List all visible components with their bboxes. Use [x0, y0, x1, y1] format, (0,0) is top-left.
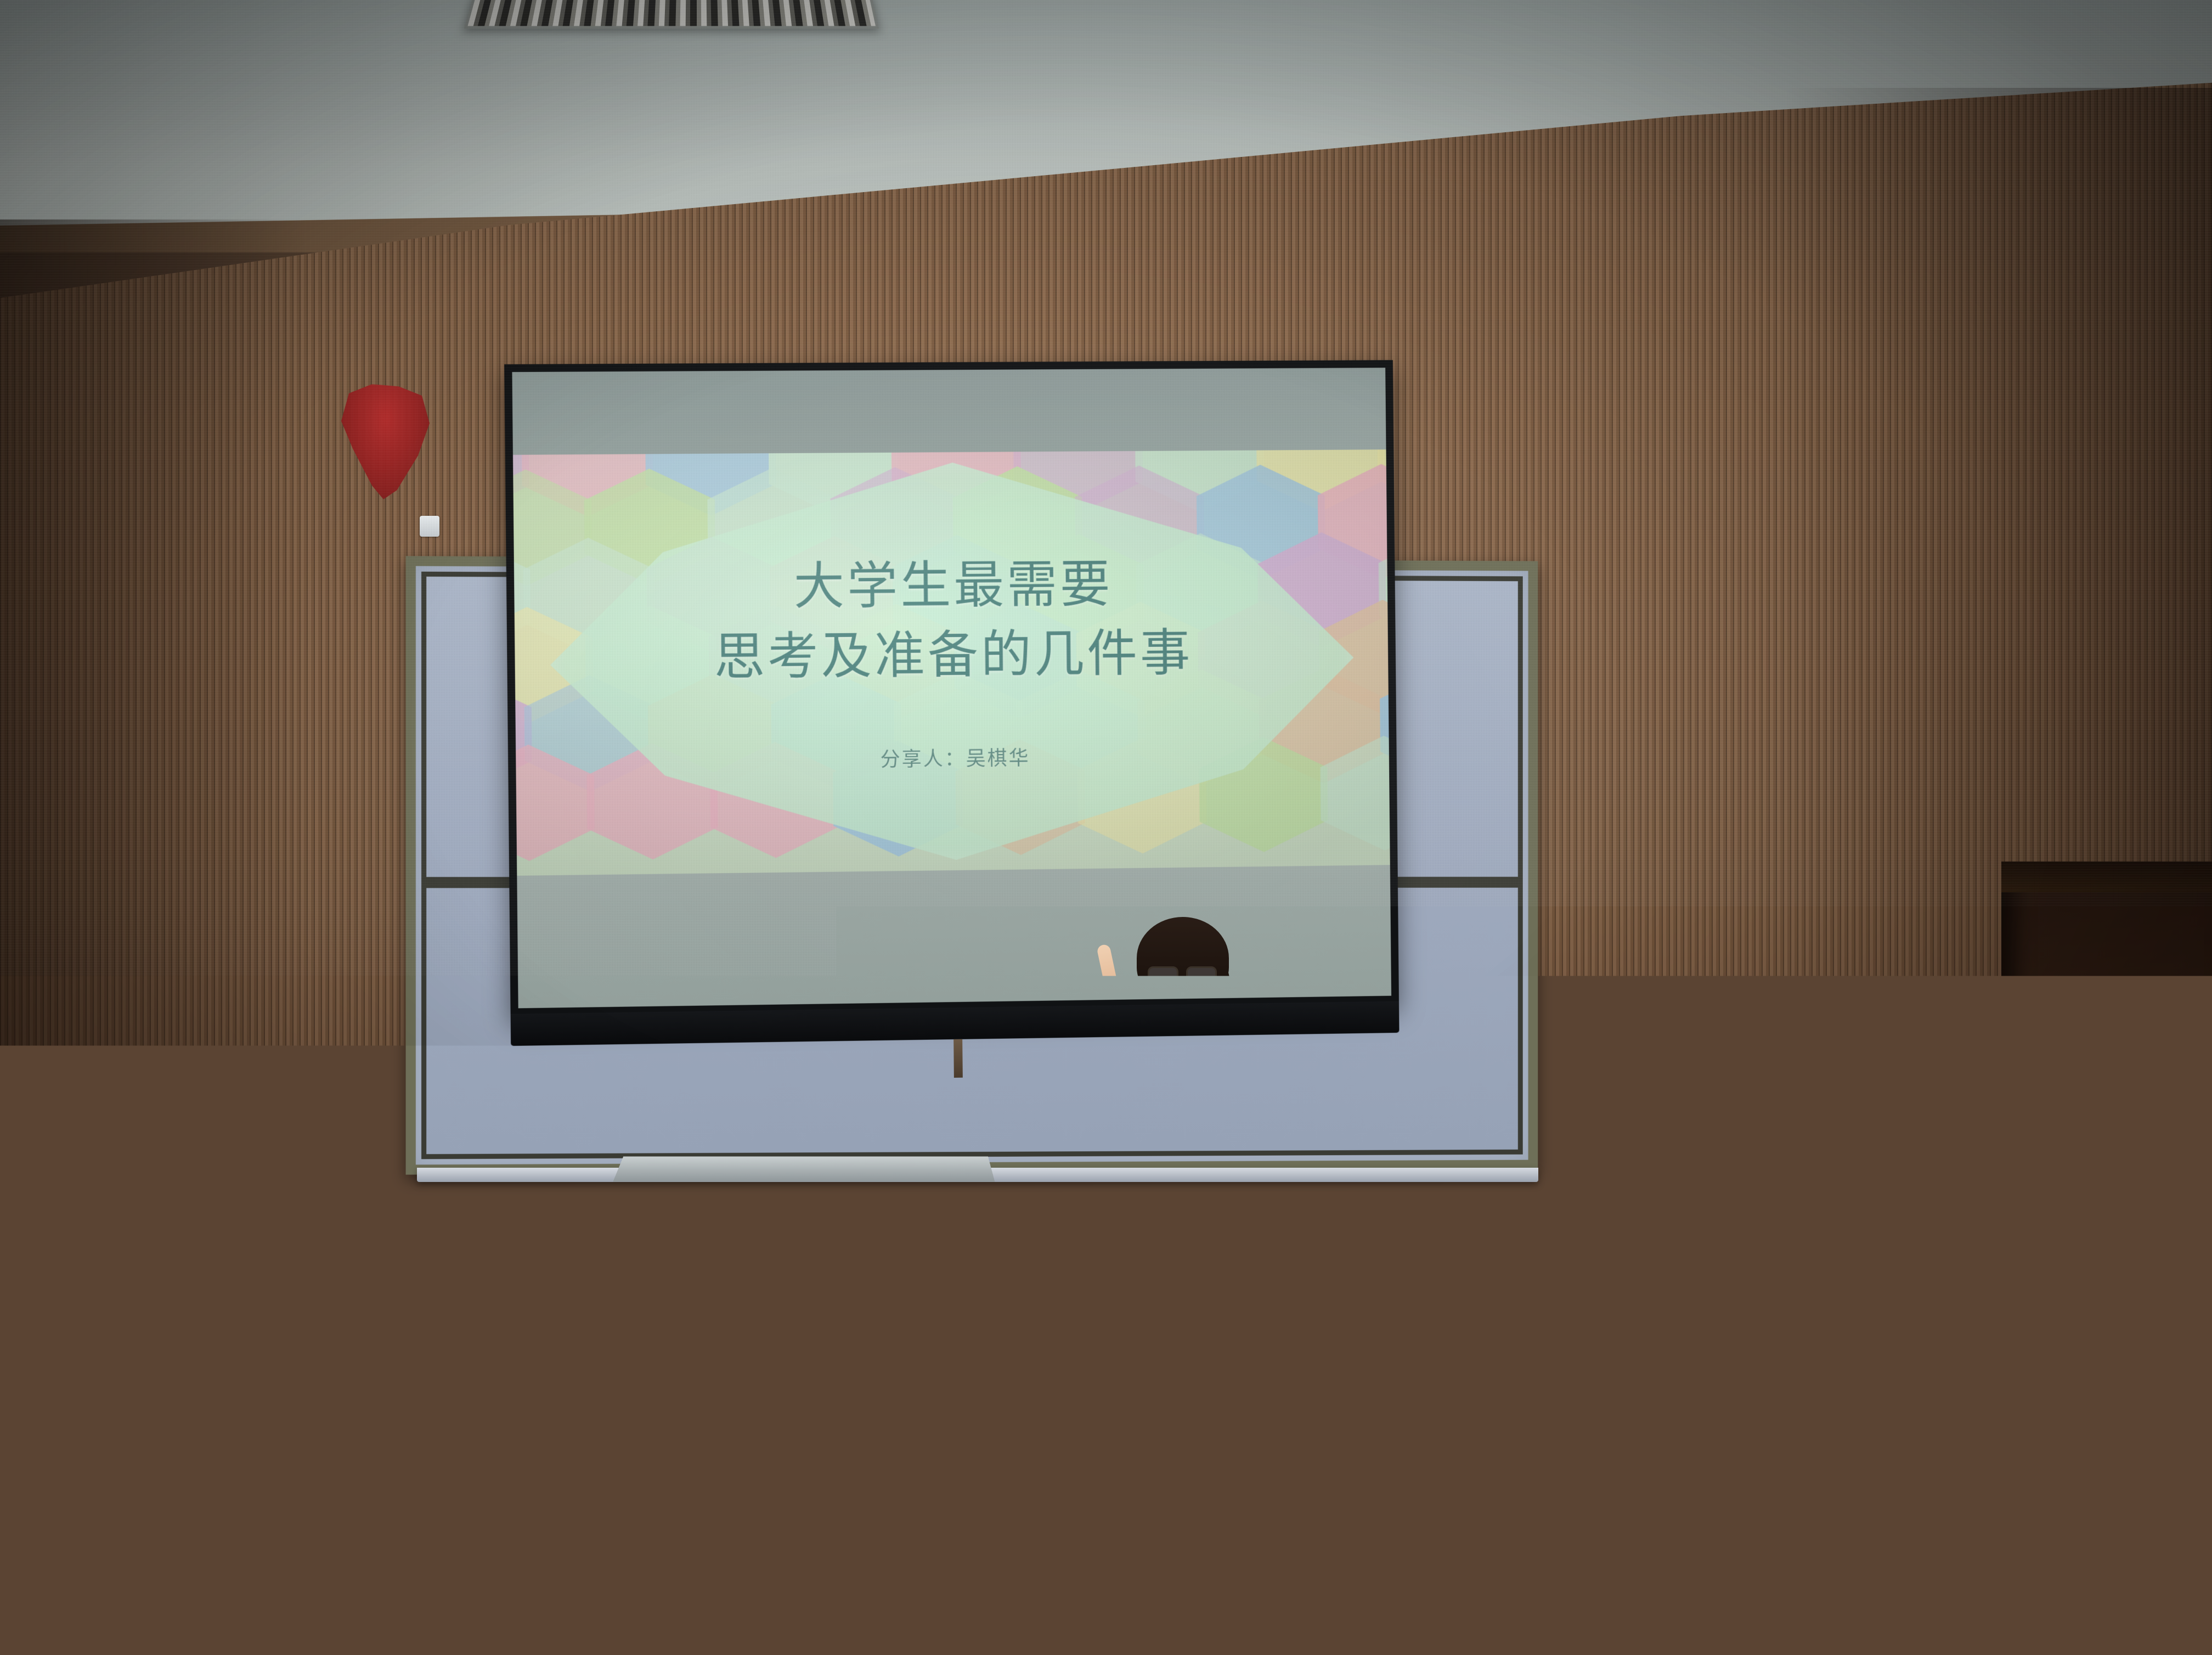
- lecture-hall-scene: 大学生最需要 思考及准备的几件事 分享人：吴棋华 仰恩 大学: [0, 0, 2212, 1655]
- wall-socket-icon: [420, 516, 439, 537]
- blouse-floral-motif: [1579, 1520, 1601, 1542]
- presenter-button-placket: [1178, 1049, 1181, 1285]
- audience-hair: [1366, 1317, 1585, 1536]
- blouse-floral-motif: [1509, 1545, 1538, 1574]
- lectern-top-surface: [613, 1156, 995, 1181]
- presenter-mic-hand: [1190, 1101, 1230, 1152]
- slide-text-block: 大学生最需要 思考及准备的几件事 分享人：吴棋华: [513, 447, 1390, 878]
- blouse-floral-motif: [1615, 1573, 1631, 1590]
- presenter-hair: [1137, 917, 1229, 999]
- blouse-floral-motif: [1397, 1580, 1418, 1601]
- thermos-cap: [1217, 1416, 1260, 1436]
- wall-alcove: [2001, 862, 2212, 1355]
- presentation-slide: 大学生最需要 思考及准备的几件事 分享人：吴棋华: [513, 447, 1390, 878]
- slide-title: 大学生最需要 思考及准备的几件事: [713, 549, 1193, 693]
- glasses-icon: [1148, 966, 1217, 983]
- audience-hair: [390, 1333, 576, 1569]
- presenter-leg-gap: [1177, 1418, 1187, 1550]
- slide-presenter-credit: 分享人：吴棋华: [880, 742, 1030, 773]
- screen-letterbox-top: [512, 368, 1386, 455]
- university-branding: 仰恩 大学: [579, 1219, 1037, 1280]
- thermos-bottle-icon: [1218, 1421, 1259, 1655]
- ceiling-light-icon: [464, 0, 879, 29]
- laptop-icon[interactable]: [743, 1107, 941, 1158]
- audience-member: [817, 1301, 1169, 1655]
- audience-member: [1306, 1317, 1657, 1655]
- audience-hair: [1816, 1361, 2046, 1591]
- hair-clip-icon: [134, 1487, 195, 1536]
- audience-member: [1783, 1361, 2079, 1655]
- audience-hair: [867, 1301, 1103, 1531]
- university-emblem-icon: [783, 1224, 833, 1275]
- blouse-floral-motif: [1355, 1526, 1380, 1551]
- blouse-floral-motif: [1537, 1595, 1561, 1619]
- alcove-header: [2001, 862, 2212, 892]
- audience-member: [357, 1333, 614, 1655]
- university-name-left: 仰恩: [683, 1230, 769, 1273]
- university-name-right: 大学: [848, 1226, 933, 1269]
- blouse-floral-motif: [1467, 1608, 1486, 1626]
